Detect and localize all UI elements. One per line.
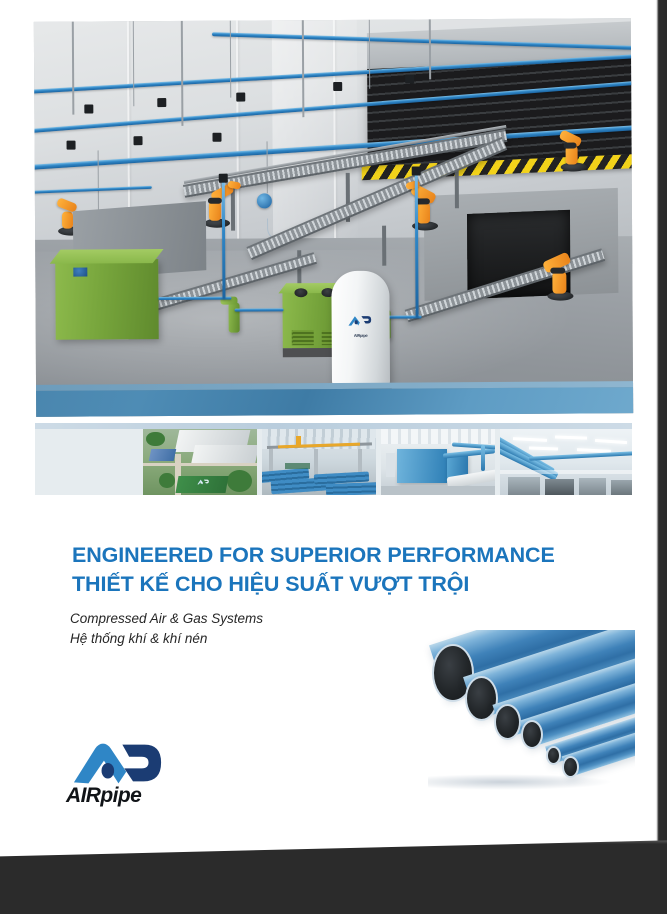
hero-robot-arm xyxy=(539,248,585,300)
airpipe-chevron-icon xyxy=(72,740,164,786)
pipe-end-cap xyxy=(546,746,561,765)
hero-air-receiver-tank: AIRpipe xyxy=(331,271,390,389)
hero-compressor-unit xyxy=(55,259,158,340)
headline: ENGINEERED FOR SUPERIOR PERFORMANCE THIẾ… xyxy=(72,541,592,599)
page-edge-right xyxy=(653,0,667,880)
tank-airpipe-logo: AIRpipe xyxy=(348,313,374,338)
hero-robot-arm xyxy=(200,182,240,228)
hero-robot-arm xyxy=(406,181,450,231)
thumbnail-2-pipe-warehouse[interactable] xyxy=(262,429,376,495)
thumbnail-4-production-hall[interactable] xyxy=(500,429,632,495)
pipes-product-image xyxy=(420,630,635,812)
hero-image: AIRpipe xyxy=(34,18,633,417)
subheadline-line-en: Compressed Air & Gas Systems xyxy=(70,609,490,629)
hero-filter xyxy=(228,303,239,333)
hero-bottom-band xyxy=(34,387,633,417)
brand-logo: AIRpipe xyxy=(66,740,186,812)
pipe-end-cap xyxy=(521,720,543,749)
brochure-cover-page: AIRpipe xyxy=(0,0,667,914)
thumbnail-1-factory-aerial[interactable] xyxy=(143,429,257,495)
hero-robot-arm xyxy=(557,127,597,171)
headline-line-en: ENGINEERED FOR SUPERIOR PERFORMANCE xyxy=(72,543,555,567)
pipe-end-cap xyxy=(494,704,521,740)
pipe-end-cap xyxy=(465,676,498,721)
wordmark-pipe: pipe xyxy=(100,784,141,807)
wordmark-air: AIR xyxy=(66,784,100,807)
pipe-end-cap xyxy=(562,756,579,778)
headline-line-vi: THIẾT KẾ CHO HIỆU SUẤT VƯỢT TRỘI xyxy=(72,570,592,599)
thumbnail-3-compressor-room[interactable] xyxy=(381,429,495,495)
brand-wordmark: AIRpipe xyxy=(66,784,182,808)
